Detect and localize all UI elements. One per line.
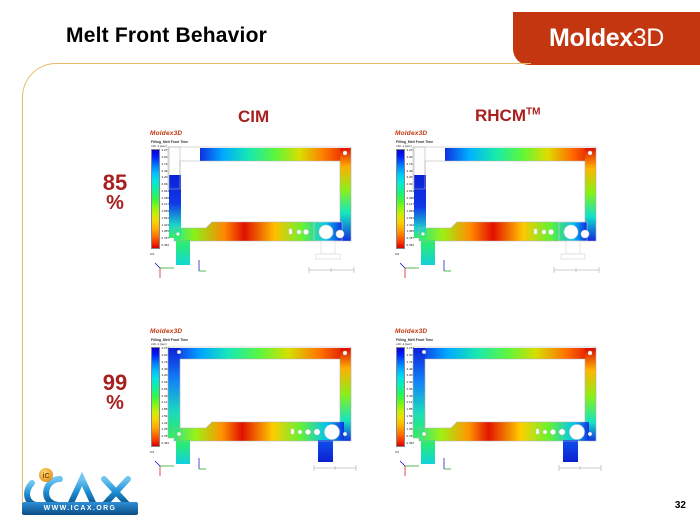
column-header-rhcm: RHCMTM — [475, 106, 540, 126]
trademark-superscript: TM — [526, 106, 540, 117]
icax-url-band: WWW.ICAX.ORG — [22, 502, 138, 515]
icax-url-text: WWW.ICAX.ORG — [44, 505, 117, 512]
part-geometry-view — [146, 326, 362, 492]
simulation-panel-cim-99[interactable]: Moldex3D Filling_Melt Front Time x10 -1 … — [146, 326, 362, 492]
simulation-panel-rhcm-85[interactable]: Moldex3D Filling_Melt Front Time x10 -1 … — [391, 128, 607, 293]
column-header-cim-label: CIM — [238, 107, 269, 126]
row-label-85: 85 % — [80, 172, 150, 214]
simulation-panel-rhcm-99[interactable]: Moldex3D Filling_Melt Front Time x10 -1 … — [391, 326, 607, 492]
icax-logo[interactable]: iC WWW.ICAX.ORG — [8, 459, 148, 521]
simulation-panel-cim-85[interactable]: Moldex3D Filling_Melt Front Time x10 -1 … — [146, 128, 362, 293]
page-number: 32 — [675, 500, 686, 511]
moldex3d-logo-text: Moldex3D — [549, 24, 664, 53]
row-label-85-unit: % — [80, 193, 150, 214]
part-geometry-view — [146, 128, 362, 293]
svg-text:iC: iC — [43, 473, 50, 480]
part-geometry-view — [391, 128, 607, 293]
column-header-cim: CIM — [238, 107, 269, 127]
logo-suffix: 3D — [633, 24, 664, 52]
logo-main: Moldex — [549, 24, 633, 52]
moldex3d-logo-banner: Moldex3D — [513, 12, 700, 65]
page-title: Melt Front Behavior — [66, 24, 267, 48]
slide: Melt Front Behavior Moldex3D CIM RHCMTM … — [0, 0, 700, 525]
column-header-rhcm-label: RHCM — [475, 106, 526, 125]
row-label-99: 99 % — [80, 372, 150, 414]
part-geometry-view — [391, 326, 607, 492]
row-label-99-unit: % — [80, 393, 150, 414]
